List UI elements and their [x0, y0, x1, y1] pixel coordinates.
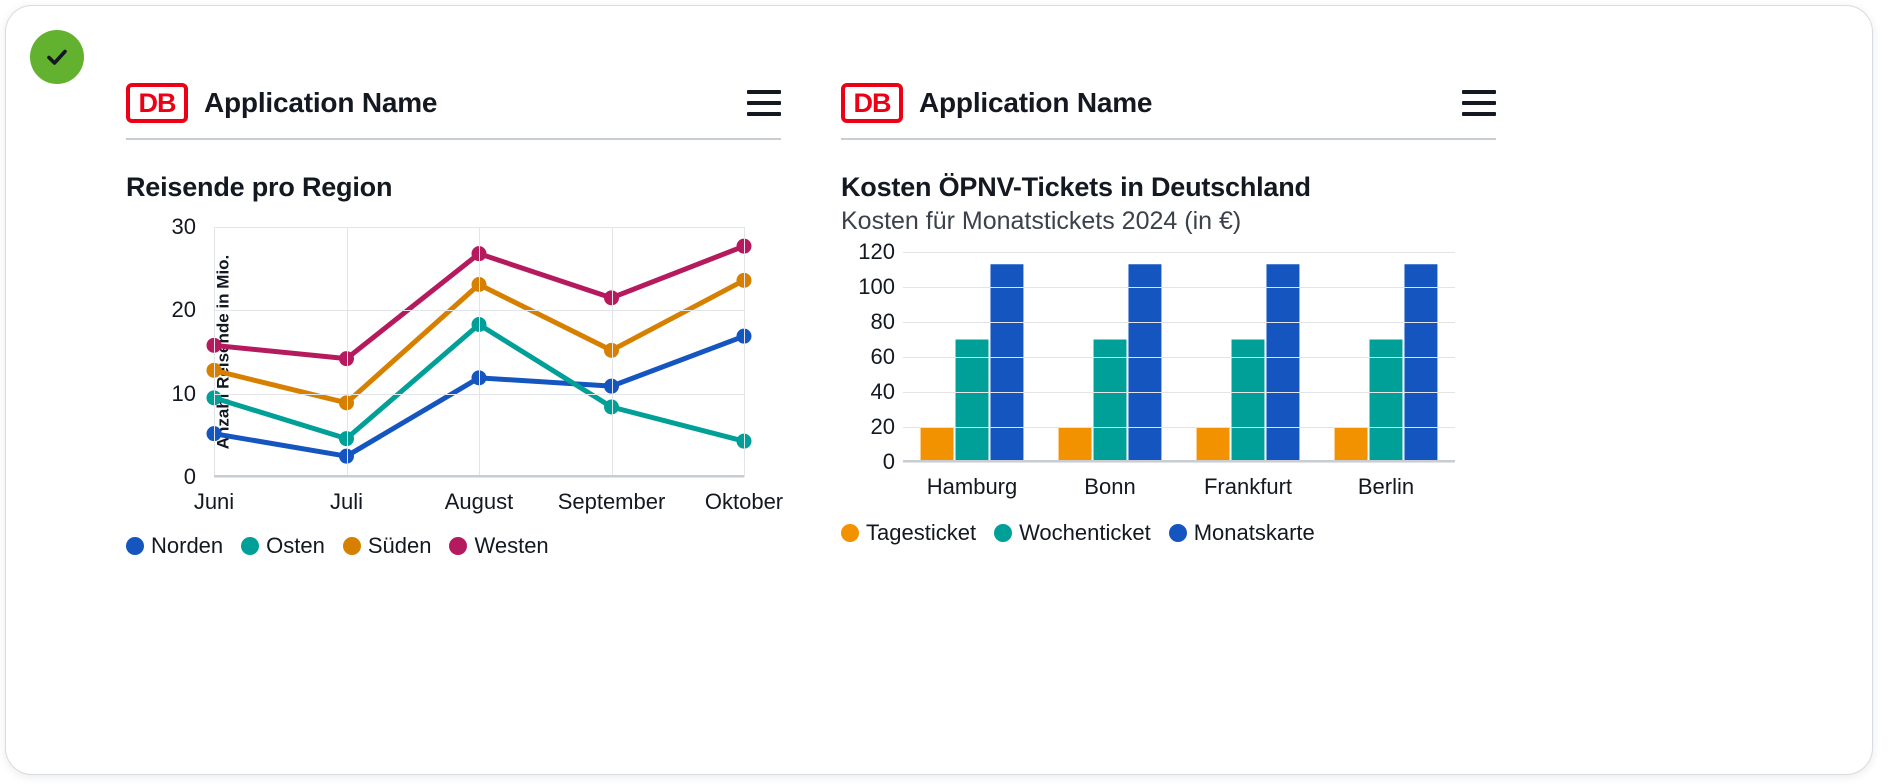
app-title-right: Application Name	[919, 87, 1152, 119]
legend-color-dot	[1169, 524, 1187, 542]
bar	[1197, 428, 1230, 462]
app-title-left: Application Name	[204, 87, 437, 119]
legend-left: NordenOstenSüdenWesten	[126, 533, 549, 559]
hamburger-menu-icon-right[interactable]	[1462, 90, 1496, 116]
y-axis-ticks-right: 020406080100120	[841, 252, 901, 462]
legend-item[interactable]: Wochenticket	[994, 520, 1151, 546]
bar-plot-area	[903, 252, 1455, 462]
x-axis-line	[903, 460, 1455, 462]
legend-color-dot	[841, 524, 859, 542]
bar	[1335, 428, 1368, 462]
y-tick: 20	[172, 297, 196, 323]
panel-left: DB Application Name Reisende pro Region …	[126, 68, 781, 557]
screenshot-canvas: DB Application Name Reisende pro Region …	[0, 0, 1888, 784]
y-axis-label-left: Anzahl Reisende in Mio.	[126, 227, 156, 477]
legend-label: Tagesticket	[866, 520, 976, 546]
bar	[990, 264, 1023, 462]
legend-item[interactable]: Tagesticket	[841, 520, 976, 546]
x-tick-label: September	[558, 489, 666, 515]
bar-chart: 020406080100120 HamburgBonnFrankfurtBerl…	[841, 252, 1496, 582]
x-tick-label: Oktober	[705, 489, 783, 515]
panel-right-divider	[841, 138, 1496, 140]
gridline-h	[903, 427, 1455, 428]
db-logo: DB	[126, 83, 188, 123]
check-icon	[42, 42, 72, 72]
legend-color-dot	[126, 537, 144, 555]
legend-item[interactable]: Monatskarte	[1169, 520, 1315, 546]
legend-label: Monatskarte	[1194, 520, 1315, 546]
y-tick: 120	[858, 239, 895, 265]
gridline-v	[214, 227, 215, 477]
x-tick-label: August	[445, 489, 514, 515]
x-tick-label: Hamburg	[927, 474, 1017, 500]
gridline-h	[903, 462, 1455, 463]
legend-label: Süden	[368, 533, 432, 559]
x-tick-label: Bonn	[1084, 474, 1135, 500]
y-tick: 100	[858, 274, 895, 300]
x-tick-label: Berlin	[1358, 474, 1414, 500]
legend-color-dot	[343, 537, 361, 555]
gridline-v	[612, 227, 613, 477]
legend-item[interactable]: Süden	[343, 533, 432, 559]
panel-left-divider	[126, 138, 781, 140]
gridline-v	[479, 227, 480, 477]
hamburger-menu-icon-left[interactable]	[747, 90, 781, 116]
legend-item[interactable]: Norden	[126, 533, 223, 559]
y-tick: 80	[871, 309, 895, 335]
gridline-h	[903, 392, 1455, 393]
y-axis-ticks-left: 0102030	[156, 227, 202, 477]
legend-label: Osten	[266, 533, 325, 559]
legend-label: Wochenticket	[1019, 520, 1151, 546]
x-tick-label: Frankfurt	[1204, 474, 1292, 500]
panel-left-header: DB Application Name	[126, 68, 781, 138]
x-tick-label: Juli	[330, 489, 363, 515]
x-tick-label: Juni	[194, 489, 234, 515]
x-axis-line	[214, 475, 744, 477]
chart-subtitle-right: Kosten für Monatstickets 2024 (in €)	[841, 207, 1496, 236]
line-chart: Anzahl Reisende in Mio. 0102030 JuniJuli…	[126, 227, 781, 557]
gridline-h	[903, 357, 1455, 358]
legend-item[interactable]: Osten	[241, 533, 325, 559]
db-logo: DB	[841, 83, 903, 123]
gridline-v	[347, 227, 348, 477]
gridline-h	[214, 477, 744, 478]
legend-color-dot	[994, 524, 1012, 542]
y-tick: 20	[871, 414, 895, 440]
legend-label: Westen	[474, 533, 548, 559]
bar	[1059, 428, 1092, 462]
y-tick: 0	[184, 464, 196, 490]
legend-color-dot	[241, 537, 259, 555]
chart-title-left: Reisende pro Region	[126, 172, 781, 203]
gridline-h	[903, 252, 1455, 253]
status-badge	[30, 30, 84, 84]
y-tick: 40	[871, 379, 895, 405]
bar	[1404, 264, 1437, 462]
gridline-v	[744, 227, 745, 477]
gridline-h	[903, 322, 1455, 323]
app-card: DB Application Name Reisende pro Region …	[6, 6, 1872, 774]
panel-right: DB Application Name Kosten ÖPNV-Tickets …	[841, 68, 1496, 582]
panel-right-header: DB Application Name	[841, 68, 1496, 138]
bar	[1128, 264, 1161, 462]
bar	[921, 428, 954, 462]
legend-color-dot	[449, 537, 467, 555]
y-tick: 0	[883, 449, 895, 475]
gridline-h	[903, 287, 1455, 288]
legend-right: TagesticketWochenticketMonatskarte	[841, 520, 1315, 546]
y-tick: 10	[172, 381, 196, 407]
y-tick: 30	[172, 214, 196, 240]
legend-label: Norden	[151, 533, 223, 559]
bar	[1266, 264, 1299, 462]
line-plot-area	[214, 227, 744, 477]
legend-item[interactable]: Westen	[449, 533, 548, 559]
y-tick: 60	[871, 344, 895, 370]
chart-title-right: Kosten ÖPNV-Tickets in Deutschland	[841, 172, 1496, 203]
